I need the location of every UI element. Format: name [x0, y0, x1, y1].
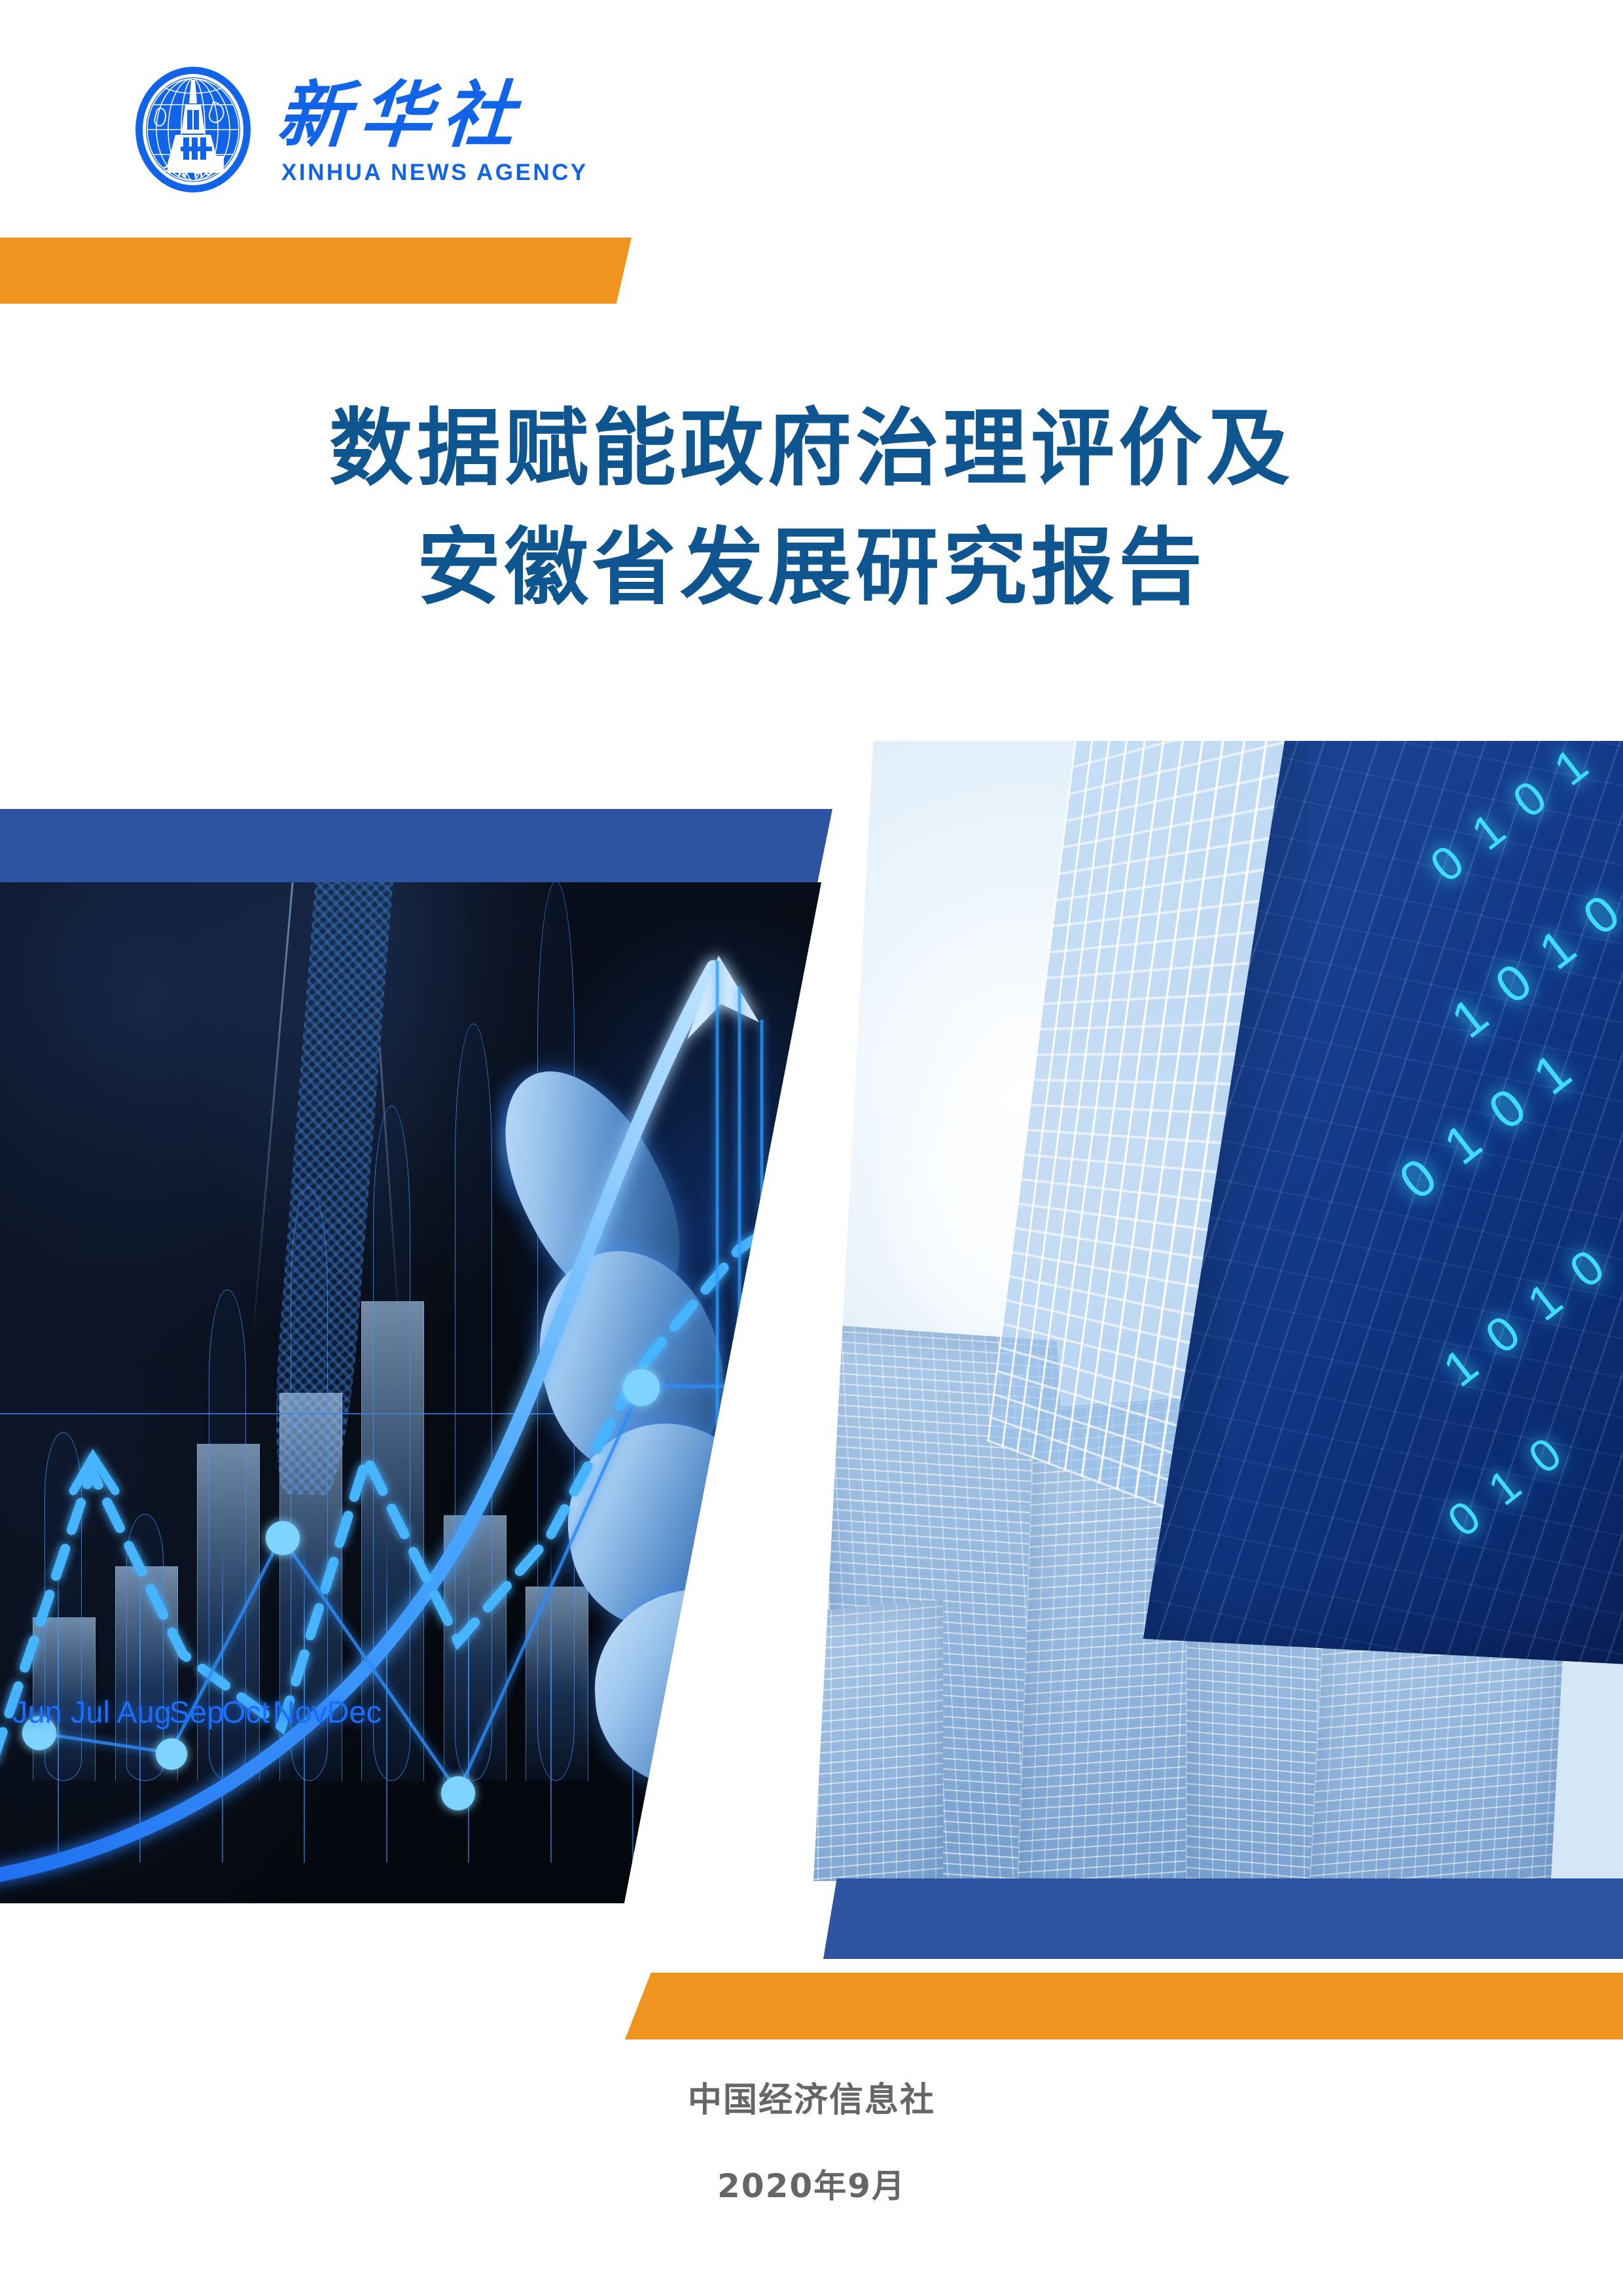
- xinhua-globe-emblem-icon: XIN HUA: [131, 64, 255, 195]
- publisher-name: 中国经济信息社: [0, 2080, 1623, 2121]
- cover-footer: 中国经济信息社 2020年9月: [0, 2080, 1623, 2206]
- report-title-line-1: 数据赋能政府治理评价及: [0, 389, 1623, 509]
- xinhua-wordmark: 新华社 XINHUA NEWS AGENCY: [277, 73, 588, 186]
- xinhua-logo: XIN HUA 新华社 XINHUA NEWS AGENCY: [131, 58, 537, 202]
- chart-overlay-vectors: [0, 882, 821, 1903]
- report-title: 数据赋能政府治理评价及 安徽省发展研究报告: [0, 389, 1623, 628]
- publication-date: 2020年9月: [0, 2166, 1623, 2206]
- orange-accent-bar-bottom: [625, 1973, 1623, 2039]
- blue-accent-band-bottom: [823, 1878, 1623, 1959]
- brand-name-en: XINHUA NEWS AGENCY: [277, 160, 588, 186]
- report-title-line-2: 安徽省发展研究报告: [0, 509, 1623, 628]
- building-block: [813, 1600, 943, 1881]
- brand-name-cn: 新华社: [275, 77, 591, 153]
- hero-image-growth-chart: Jun Jul Aug Sep Oct Nov Dec: [0, 882, 821, 1903]
- blue-accent-band-top: [0, 809, 832, 883]
- hero-image-skyscrapers: 0 1 0 1 1 0 1 0 0 1 0 1 1 0 1 0 0 1 0: [813, 741, 1623, 1881]
- document-cover-page: XIN HUA 新华社 XINHUA NEWS AGENCY 数据赋能政府治理评…: [0, 0, 1623, 2296]
- orange-accent-bar-top: [0, 238, 632, 304]
